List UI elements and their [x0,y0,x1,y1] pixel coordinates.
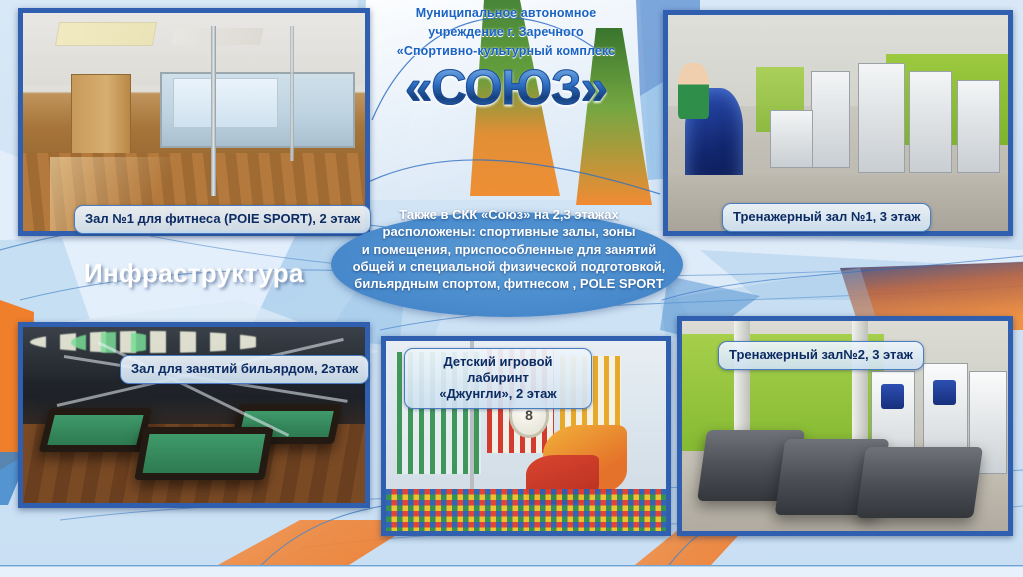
logo-line-3: «Спортивно-культурный комплекс [372,42,640,61]
photo-gym-hall-1-image [668,15,1008,231]
caption-fitness-hall: Зал №1 для фитнеса (POIE SPORT), 2 этаж [74,205,371,234]
center-paragraph-line-5: бильярдным спортом, фитнесом , POLE SPOR… [336,275,682,292]
caption-gym-hall-2: Тренажерный зал№2, 3 этаж [718,341,924,370]
organization-logo: Муниципальное автономное учреждение г. З… [372,4,640,156]
center-paragraph: Также в СКК «Союз» на 2,3 этажах располо… [336,206,682,292]
photo-billiard-hall[interactable] [18,322,370,508]
photo-fitness-hall-image [23,13,365,231]
caption-gym-hall-1: Тренажерный зал №1, 3 этаж [722,203,931,232]
logo-name: «СОЮЗ» [372,64,640,112]
center-paragraph-line-3: и помещения, приспособленные для занятий [336,241,682,258]
page-title: Инфраструктура [84,258,304,289]
logo-line-2: учреждение г. Заречного [372,23,640,42]
center-paragraph-line-1: Также в СКК «Союз» на 2,3 этажах [336,206,682,223]
center-paragraph-line-2: расположены: спортивные залы, зоны [336,223,682,240]
photo-billiard-hall-image [23,327,365,503]
logo-line-1: Муниципальное автономное [372,4,640,23]
caption-billiard-hall: Зал для занятий бильярдом, 2этаж [120,355,369,384]
caption-kids-labyrinth-line1: Детский игровой лабиринт [443,354,552,385]
photo-fitness-hall[interactable] [18,8,370,236]
caption-kids-labyrinth: Детский игровой лабиринт «Джунгли», 2 эт… [404,348,592,409]
presentation-slide: Муниципальное автономное учреждение г. З… [0,0,1023,577]
center-paragraph-line-4: общей и специальной физической подготовк… [336,258,682,275]
caption-kids-labyrinth-line2: «Джунгли», 2 этаж [439,386,556,401]
